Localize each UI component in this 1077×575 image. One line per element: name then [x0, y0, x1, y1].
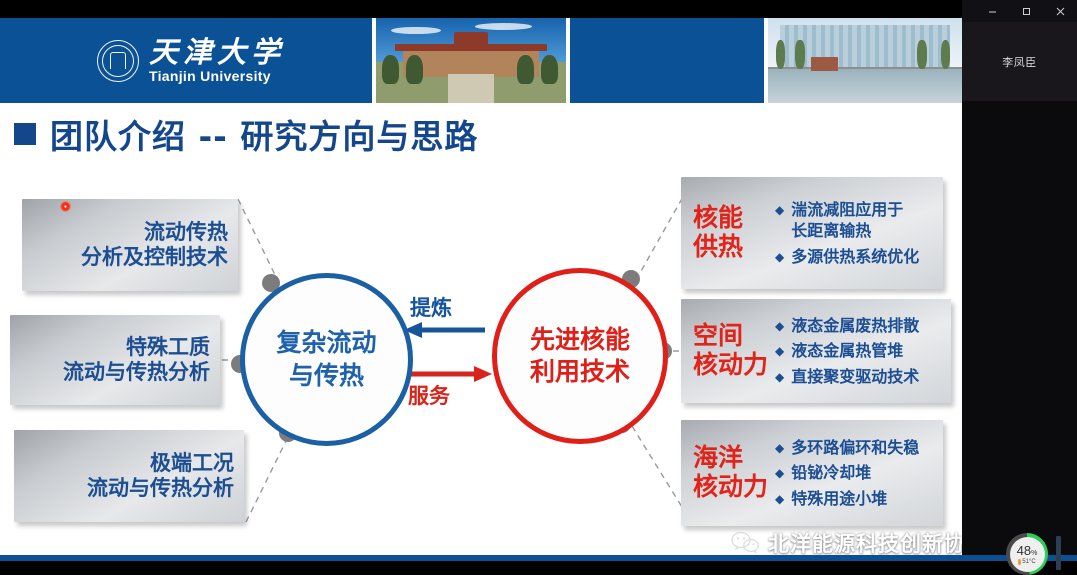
- header-blue-block: [570, 18, 764, 103]
- diamond-bullet-icon: ◆: [775, 315, 784, 334]
- left-box-2-line-1: 特殊工质: [126, 335, 220, 360]
- gauge-side-bar: [1056, 536, 1061, 570]
- left-box-2[interactable]: 特殊工质 流动与传热分析: [10, 315, 220, 405]
- maximize-icon[interactable]: [1009, 0, 1043, 22]
- left-box-3[interactable]: 极端工况 流动与传热分析: [14, 430, 244, 522]
- diamond-bullet-icon: ◆: [775, 340, 784, 359]
- center-circle-left-line-2: 与传热: [289, 360, 364, 393]
- right-panel-2-item-3: 直接聚变驱动技术: [791, 366, 919, 387]
- watermark: 北洋能源科技创新协会: [730, 528, 962, 555]
- university-logo-cell: 天津大学 Tianjin University: [0, 18, 372, 103]
- center-circle-right-line-1: 先进核能: [530, 324, 630, 357]
- right-panel-3-title: 海洋 核动力: [681, 444, 771, 502]
- right-panel-1-title: 核能 供热: [681, 204, 771, 262]
- slide-header-strip: 天津大学 Tianjin University: [0, 18, 962, 103]
- bullet-square-icon: [14, 123, 36, 145]
- app-root: 李凤臣 天津大学 Tianjin University: [0, 0, 1077, 575]
- left-box-2-line-2: 流动与传热分析: [63, 360, 220, 385]
- slide-title: 团队介绍 -- 研究方向与思路: [14, 110, 478, 158]
- right-panel-3-item-1: 多环路偏环和失稳: [791, 437, 919, 458]
- diamond-bullet-icon: ◆: [775, 462, 784, 481]
- diamond-bullet-icon: ◆: [775, 437, 784, 456]
- bottom-black-bar: [0, 561, 1077, 575]
- participant-tile[interactable]: 李凤臣: [962, 22, 1077, 101]
- watermark-text: 北洋能源科技创新协会: [768, 528, 962, 555]
- arrow-label-serve: 服务: [408, 380, 450, 410]
- list-item: ◆ 特殊用途小堆: [775, 488, 919, 509]
- right-panel-2-item-1: 液态金属废热排散: [791, 315, 919, 336]
- diamond-bullet-icon: ◆: [775, 488, 784, 507]
- gauge-percent: 48%: [1017, 544, 1038, 557]
- right-panel-1-item-1: 湍流减阻应用于 长距离输热: [791, 199, 903, 241]
- list-item: ◆ 液态金属热管堆: [775, 340, 919, 361]
- list-item: ◆ 液态金属废热排散: [775, 315, 919, 336]
- university-seal-icon: [97, 40, 139, 82]
- close-icon[interactable]: [1043, 0, 1077, 22]
- list-item: ◆ 直接聚变驱动技术: [775, 366, 919, 387]
- right-panel-3-item-2: 铅铋冷却堆: [791, 462, 871, 483]
- left-box-1-line-1: 流动传热: [144, 220, 238, 245]
- minimize-icon[interactable]: [975, 0, 1009, 22]
- list-item: ◆ 多环路偏环和失稳: [775, 437, 919, 458]
- list-item: ◆ 湍流减阻应用于 长距离输热: [775, 199, 919, 241]
- right-panel-2-item-2: 液态金属热管堆: [791, 340, 903, 361]
- logo-english-name: Tianjin University: [149, 68, 285, 84]
- campus-photo-new-building: [768, 18, 962, 103]
- right-panel-2[interactable]: 空间 核动力 ◆ 液态金属废热排散 ◆ 液态金属热管堆 ◆ 直接聚变驱动技术: [681, 299, 951, 403]
- gauge-temperature: 51°C: [1018, 559, 1035, 565]
- right-panel-2-title: 空间 核动力: [681, 322, 771, 380]
- campus-photo-old-building: [376, 18, 566, 103]
- left-box-1-line-2: 分析及控制技术: [81, 245, 238, 270]
- wechat-icon: [730, 531, 760, 555]
- left-box-3-line-2: 流动与传热分析: [87, 476, 244, 501]
- center-circle-left[interactable]: 复杂流动 与传热: [240, 273, 413, 446]
- center-circle-right-line-2: 利用技术: [530, 356, 630, 389]
- left-box-3-line-1: 极端工况: [150, 451, 244, 476]
- diamond-bullet-icon: ◆: [775, 246, 784, 265]
- left-box-1[interactable]: 流动传热 分析及控制技术: [22, 199, 238, 291]
- slide-title-text: 团队介绍 -- 研究方向与思路: [50, 110, 478, 158]
- list-item: ◆ 铅铋冷却堆: [775, 462, 919, 483]
- diamond-bullet-icon: ◆: [775, 366, 784, 385]
- right-panel-1-item-2: 多源供热系统优化: [791, 246, 919, 267]
- right-panel-3[interactable]: 海洋 核动力 ◆ 多环路偏环和失稳 ◆ 铅铋冷却堆 ◆ 特殊用途小堆: [681, 420, 943, 526]
- diamond-bullet-icon: ◆: [775, 199, 784, 218]
- right-panel-1[interactable]: 核能 供热 ◆ 湍流减阻应用于 长距离输热 ◆ 多源供热系统优化: [681, 177, 943, 289]
- system-monitor-gauge[interactable]: 48% 51°C: [1006, 533, 1048, 575]
- window-controls: [962, 0, 1077, 22]
- right-panel-3-item-3: 特殊用途小堆: [791, 488, 887, 509]
- slide-canvas: 天津大学 Tianjin University: [0, 18, 962, 555]
- participant-list-panel: [962, 101, 1077, 575]
- participant-name: 李凤臣: [1002, 54, 1037, 70]
- center-circle-right[interactable]: 先进核能 利用技术: [492, 268, 668, 444]
- thermometer-icon: [1018, 559, 1021, 565]
- center-circle-left-line-1: 复杂流动: [276, 327, 376, 360]
- logo-chinese-name: 天津大学: [149, 37, 285, 67]
- arrow-label-refine: 提炼: [410, 292, 452, 322]
- list-item: ◆ 多源供热系统优化: [775, 246, 919, 267]
- laser-pointer-dot: [60, 201, 71, 212]
